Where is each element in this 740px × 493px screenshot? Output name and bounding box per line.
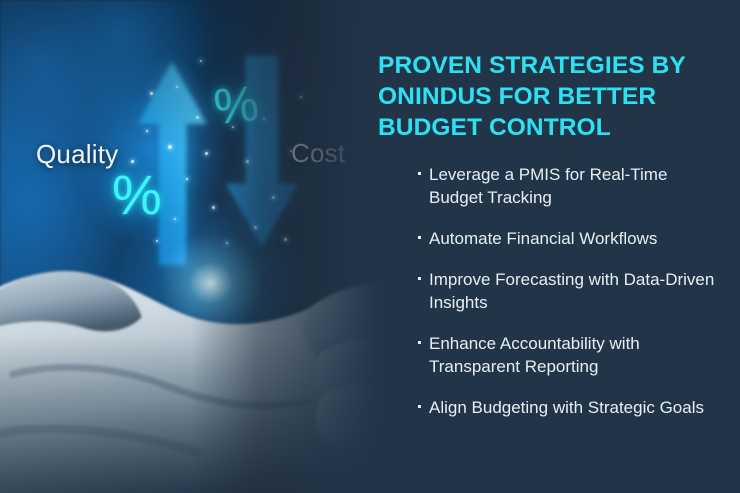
list-item-label: Align Budgeting with Strategic Goals xyxy=(429,398,704,417)
strategy-list: Leverage a PMIS for Real-Time Budget Tra… xyxy=(418,163,718,437)
list-item: Improve Forecasting with Data-Driven Ins… xyxy=(418,268,718,314)
text-panel: PROVEN STRATEGIES BY ONINDUS FOR BETTER … xyxy=(370,0,740,493)
list-item: Leverage a PMIS for Real-Time Budget Tra… xyxy=(418,163,718,209)
list-item: Enhance Accountability with Transparent … xyxy=(418,332,718,378)
headline-line-3: BUDGET CONTROL xyxy=(378,114,611,141)
bullet-dot-icon xyxy=(418,341,421,344)
bullet-dot-icon xyxy=(418,172,421,175)
banner: % % Quality Cost xyxy=(0,0,740,493)
bullet-dot-icon xyxy=(418,236,421,239)
headline-line-2: ONINDUS FOR BETTER xyxy=(378,83,656,110)
page-title: PROVEN STRATEGIES BY ONINDUS FOR BETTER … xyxy=(378,50,726,143)
list-item-label: Enhance Accountability with Transparent … xyxy=(429,334,640,376)
list-item-label: Automate Financial Workflows xyxy=(429,229,657,248)
bullet-dot-icon xyxy=(418,277,421,280)
list-item: Align Budgeting with Strategic Goals xyxy=(418,396,718,419)
hero-photo: % % Quality Cost xyxy=(0,0,420,493)
headline-line-1: PROVEN STRATEGIES BY xyxy=(378,52,686,79)
list-item: Automate Financial Workflows xyxy=(418,227,718,250)
list-item-label: Improve Forecasting with Data-Driven Ins… xyxy=(429,270,714,312)
list-item-label: Leverage a PMIS for Real-Time Budget Tra… xyxy=(429,165,667,207)
bullet-dot-icon xyxy=(418,405,421,408)
